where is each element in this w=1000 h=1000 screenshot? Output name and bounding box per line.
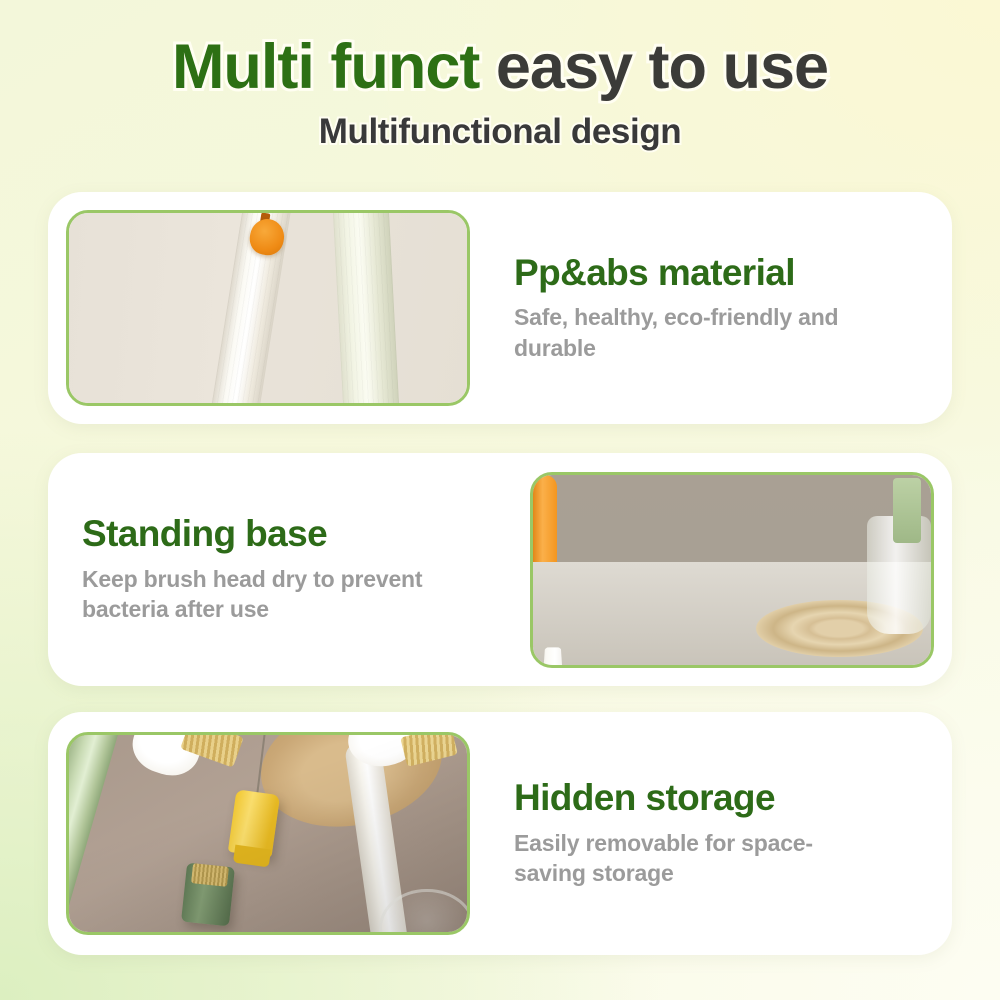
- feature-heading: Pp&abs material: [514, 253, 918, 294]
- feature-card-hidden-storage: Hidden storage Easily removable for spac…: [48, 712, 952, 955]
- header: Multi funct easy to use Multifunctional …: [0, 0, 1000, 152]
- page-title-dark: easy to use: [479, 32, 828, 102]
- feature-photo-standing-base: [530, 472, 934, 668]
- feature-heading: Standing base: [82, 514, 486, 555]
- feature-card-standing-base: Standing base Keep brush head dry to pre…: [48, 453, 952, 686]
- feature-body: Safe, healthy, eco-friendly and durable: [514, 302, 884, 363]
- page-title-green: Multi funct: [172, 32, 479, 102]
- page-title: Multi funct easy to use: [0, 34, 1000, 100]
- feature-body: Keep brush head dry to prevent bacteria …: [82, 564, 452, 625]
- feature-card-material: Pp&abs material Safe, healthy, eco-frien…: [48, 192, 952, 424]
- feature-text-hidden-storage: Hidden storage Easily removable for spac…: [470, 778, 952, 889]
- feature-text-material: Pp&abs material Safe, healthy, eco-frien…: [470, 253, 952, 364]
- feature-text-standing-base: Standing base Keep brush head dry to pre…: [48, 514, 530, 625]
- page-subtitle: Multifunctional design: [0, 112, 1000, 152]
- feature-body: Easily removable for space-saving storag…: [514, 828, 884, 889]
- feature-photo-material: [66, 210, 470, 406]
- infographic-page: Multi funct easy to use Multifunctional …: [0, 0, 1000, 1000]
- feature-photo-hidden-storage: [66, 732, 470, 935]
- feature-heading: Hidden storage: [514, 778, 918, 819]
